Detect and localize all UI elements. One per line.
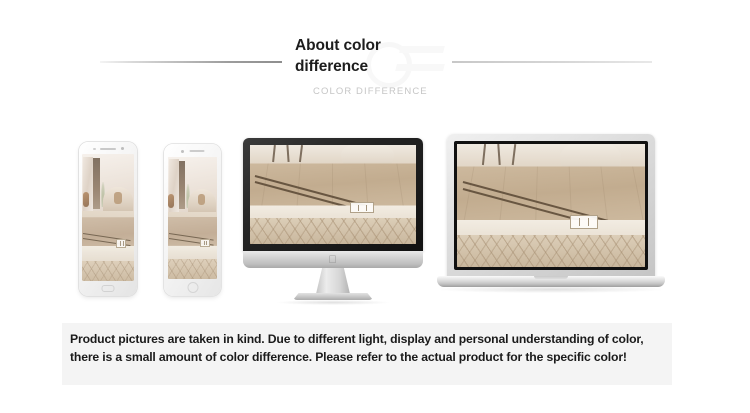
room-photo-image: [82, 154, 134, 281]
disclaimer-panel: Product pictures are taken in kind. Due …: [62, 323, 672, 385]
device-showcase: : [0, 130, 750, 310]
macbook-bezel: [454, 141, 648, 270]
product-color-difference-banner: About color difference COLOR DIFFERENCE: [0, 0, 750, 413]
header-rule-right: [452, 61, 652, 63]
imac-chin: : [243, 251, 423, 268]
smartphone-android-screen: [82, 154, 134, 281]
imac-stand-foot: [293, 293, 373, 300]
macbook-shadow: [441, 287, 661, 293]
macbook-screen: [457, 144, 645, 267]
device-laptop-macbook: [437, 134, 665, 304]
apple-logo-icon: : [329, 254, 338, 264]
earpiece-speaker-icon: [100, 148, 116, 150]
imac-screen: [250, 145, 416, 244]
page-subtitle: COLOR DIFFERENCE: [313, 86, 428, 97]
home-button[interactable]: [102, 285, 115, 292]
page-title-line-2: difference: [295, 57, 455, 78]
front-camera-icon: [181, 150, 184, 153]
home-button[interactable]: [187, 282, 198, 293]
smartphone-iphone-screen: [168, 157, 217, 279]
device-smartphone-android: [79, 142, 137, 296]
macbook-lid: [447, 134, 655, 278]
imac-stand-neck: [316, 268, 350, 294]
device-smartphone-iphone: [164, 144, 221, 296]
macbook-lid-notch: [534, 276, 568, 279]
earpiece-speaker-icon: [189, 150, 204, 152]
page-title: About color difference: [295, 36, 455, 77]
imac-shadow: [277, 300, 389, 305]
front-camera-icon: [121, 147, 124, 150]
page-title-line-1: About color: [295, 37, 381, 54]
imac-bezel: [243, 138, 423, 251]
device-desktop-imac: : [243, 138, 423, 308]
room-photo-image: [168, 157, 217, 279]
proximity-sensor-icon: [93, 148, 96, 151]
tile-closeup-image: [250, 145, 416, 244]
header-rule-left: [100, 61, 282, 63]
header-section: About color difference COLOR DIFFERENCE: [0, 0, 750, 120]
tile-closeup-image: [457, 144, 645, 267]
disclaimer-text: Product pictures are taken in kind. Due …: [70, 331, 662, 367]
